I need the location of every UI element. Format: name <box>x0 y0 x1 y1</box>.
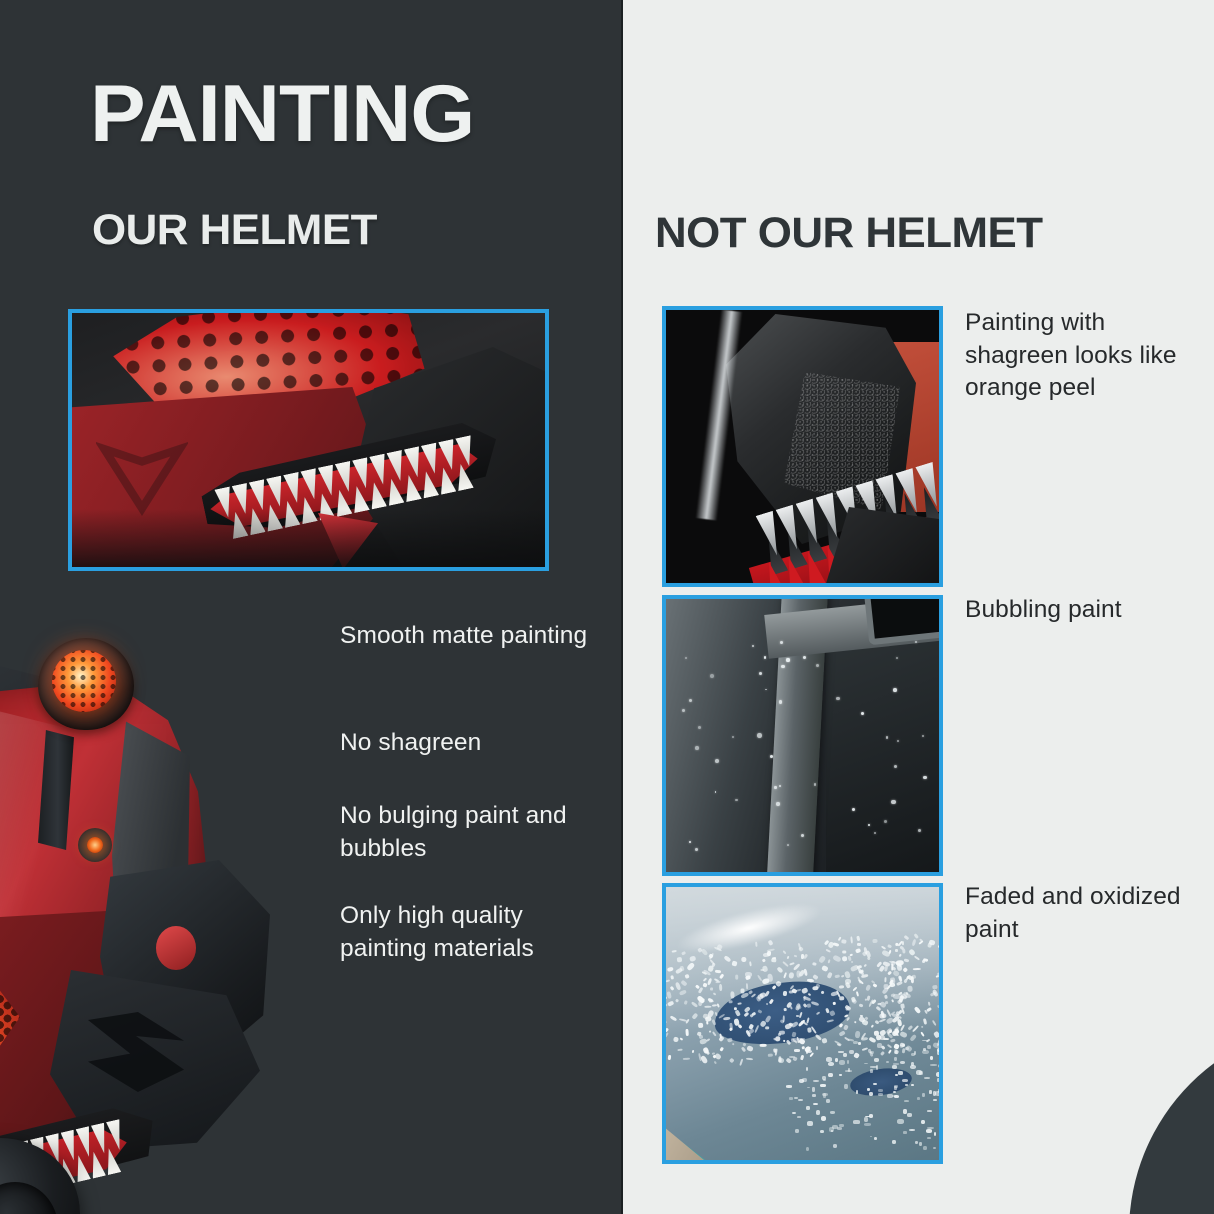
paint-bubble <box>786 658 789 661</box>
oxidation-fleck <box>666 979 670 982</box>
oxidation-fleck <box>743 1006 750 1013</box>
oxidation-fleck <box>912 974 916 979</box>
oxidation-fleck <box>843 950 847 953</box>
oxidation-fleck <box>724 955 732 962</box>
oxidation-fleck <box>723 1017 731 1021</box>
oxidation-fleck <box>904 1100 910 1102</box>
oxidation-fleck <box>873 1083 877 1085</box>
oxidation-fleck <box>869 1114 873 1118</box>
oxidation-fleck <box>798 1099 803 1101</box>
oxidation-fleck <box>888 1050 891 1054</box>
oxidation-fleck <box>853 1120 859 1123</box>
tooth <box>780 554 807 583</box>
oxidation-fleck <box>743 1043 747 1047</box>
paint-bubble <box>732 736 734 738</box>
photo-bottom-shadow <box>72 509 545 567</box>
oxidation-fleck <box>870 1066 877 1068</box>
paint-bubble <box>759 672 762 675</box>
oxidation-fleck <box>922 1093 924 1097</box>
paint-bubble <box>852 808 855 811</box>
oxidation-fleck <box>746 1045 753 1052</box>
oxidation-fleck <box>864 1117 868 1122</box>
oxidation-fleck <box>927 1110 932 1112</box>
oxidation-fleck <box>791 1038 797 1041</box>
comparison-infographic: PAINTING OUR HELMET NOT OUR HELMET <box>0 0 1214 1214</box>
oxidation-fleck <box>901 948 905 954</box>
oxidation-fleck <box>803 969 808 977</box>
oxidation-fleck <box>720 1047 724 1052</box>
paint-bubble <box>689 699 692 702</box>
oxidation-fleck <box>713 1031 717 1036</box>
oxidation-fleck <box>884 995 888 999</box>
oxidation-fleck <box>767 940 773 947</box>
oxidation-fleck <box>679 990 687 996</box>
not-our-helmet-photo-panel-3 <box>662 883 943 1164</box>
oxidation-fleck <box>684 973 689 978</box>
right-column-heading: NOT OUR HELMET <box>655 212 1043 255</box>
oxidation-fleck <box>892 1065 897 1069</box>
oxidation-fleck <box>902 1079 908 1082</box>
oxidation-fleck <box>839 997 844 1001</box>
oxidation-fleck <box>783 1015 785 1022</box>
oxidation-fleck <box>887 1094 892 1098</box>
oxidation-fleck <box>860 1014 863 1016</box>
oxidation-fleck <box>861 1019 868 1026</box>
oxidation-fleck <box>870 1024 873 1027</box>
oxidation-fleck <box>926 1007 931 1012</box>
oxidation-fleck <box>820 1084 826 1087</box>
oxidation-fleck <box>826 1057 833 1062</box>
paint-bubble <box>735 799 737 801</box>
oxidation-fleck <box>792 1112 797 1114</box>
oxidation-fleck <box>714 1053 722 1061</box>
paint-bubble <box>682 709 685 712</box>
tooth <box>761 560 788 583</box>
oxidation-fleck <box>769 998 774 1003</box>
oxidation-fleck <box>874 1058 879 1062</box>
oxidation-fleck <box>914 1051 916 1055</box>
oxidation-fleck <box>853 1052 860 1059</box>
oxidation-fleck <box>811 1026 817 1033</box>
oxidation-fleck <box>768 1054 773 1058</box>
paint-bubble <box>695 848 698 851</box>
oxidation-fleck <box>922 1050 928 1055</box>
oxidation-fleck <box>858 1042 861 1045</box>
paint-bubble <box>715 759 719 763</box>
oxidation-fleck <box>816 1110 821 1115</box>
oxidation-fleck <box>705 1050 710 1056</box>
oxidation-fleck <box>712 1019 717 1026</box>
oxidation-fleck <box>839 1060 846 1064</box>
oxidation-fleck <box>851 961 853 963</box>
oxidation-fleck <box>795 1129 799 1133</box>
oxidation-fleck <box>850 936 853 943</box>
oxidation-fleck <box>703 978 707 982</box>
paint-bubble <box>752 645 754 647</box>
oxidation-fleck <box>903 1131 906 1134</box>
tooth <box>418 470 439 499</box>
oxidation-fleck <box>666 991 671 998</box>
oxidation-fleck <box>684 1001 688 1005</box>
oxidation-fleck <box>782 950 787 955</box>
page-title: PAINTING <box>90 74 474 155</box>
oxidation-fleck <box>826 949 832 953</box>
oxidation-fleck <box>907 985 913 991</box>
feature-item-4: Only high quality painting materials <box>340 900 590 965</box>
oxidation-fleck <box>901 1003 905 1008</box>
oxidation-fleck <box>741 1046 746 1052</box>
oxidation-fleck <box>924 1077 930 1079</box>
oxidation-fleck <box>849 1050 854 1055</box>
oxidation-fleck <box>670 985 675 990</box>
defect-label-1: Painting with shagreen looks like orange… <box>965 307 1187 405</box>
oxidation-fleck <box>913 968 921 970</box>
oxidation-fleck <box>778 1033 781 1036</box>
paint-bubble <box>923 776 926 779</box>
oxidation-fleck <box>679 1037 682 1040</box>
oxidation-fleck <box>785 1057 791 1063</box>
oxidation-fleck <box>923 1146 927 1150</box>
oxidation-fleck <box>855 948 861 953</box>
paint-bubble <box>776 802 779 805</box>
paint-bubble <box>918 829 921 832</box>
oxidation-fleck <box>719 984 723 991</box>
oxidation-fleck <box>707 978 713 986</box>
oxidation-fleck <box>881 1051 885 1055</box>
oxidation-fleck <box>714 1061 718 1065</box>
oxidation-fleck <box>807 1121 813 1125</box>
oxidation-fleck <box>893 1063 898 1065</box>
oxidation-fleck <box>799 1012 803 1018</box>
oxidation-fleck <box>853 1021 856 1024</box>
oxidation-fleck <box>892 1140 896 1144</box>
oxidation-fleck <box>842 939 848 944</box>
tooth <box>436 466 457 495</box>
helmet-red-knob <box>156 926 196 970</box>
oxidation-fleck <box>894 1085 897 1087</box>
oxidation-fleck <box>902 941 904 945</box>
oxidation-fleck <box>680 980 687 987</box>
oxidation-fleck <box>937 1048 939 1053</box>
oxidation-fleck <box>907 1113 912 1117</box>
helmet-lens-inner <box>0 1182 58 1214</box>
paint-bubble <box>757 733 762 738</box>
oxidation-fleck <box>864 1123 871 1126</box>
oxidation-fleck <box>717 1003 721 1007</box>
oxidation-fleck <box>914 956 920 961</box>
oxidation-fleck <box>936 1004 939 1008</box>
oxidation-fleck <box>765 1026 769 1029</box>
oxidation-fleck <box>920 1032 924 1037</box>
oxidation-fleck <box>797 1116 801 1118</box>
oxidation-fleck <box>827 960 830 964</box>
paint-bubble <box>781 665 784 668</box>
oxidation-fleck <box>746 1057 754 1060</box>
oxidation-fleck <box>911 939 916 947</box>
oxidation-fleck <box>774 1048 777 1055</box>
lamp-glow-face <box>52 650 116 712</box>
oxidation-fleck <box>810 1000 818 1005</box>
oxidation-fleck <box>847 1060 849 1064</box>
paint-bubble <box>884 820 887 823</box>
oxidation-fleck <box>766 1003 769 1006</box>
oxidation-fleck <box>668 1001 675 1007</box>
oxidation-fleck <box>935 1091 939 1096</box>
oxidation-fleck <box>894 1049 897 1053</box>
feature-item-3: No bulging paint and bubbles <box>340 800 590 865</box>
oxidation-fleck <box>927 1045 931 1050</box>
paint-bubble <box>891 800 895 804</box>
oxidation-fleck <box>783 1007 786 1010</box>
oxidation-fleck <box>812 986 819 991</box>
oxidation-fleck <box>891 999 894 1003</box>
oxidation-fleck <box>691 1050 694 1054</box>
oxidation-fleck <box>859 1003 864 1007</box>
oxidation-fleck <box>686 1029 689 1036</box>
oxidation-fleck <box>828 1062 834 1066</box>
tooth <box>366 481 387 510</box>
oxidation-fleck <box>833 1144 838 1148</box>
oxidation-fleck <box>799 1079 804 1083</box>
oxidation-fleck <box>938 1064 939 1069</box>
oxidation-fleck <box>678 1049 683 1051</box>
helmet-honeycomb-lamp <box>38 638 134 730</box>
oxidation-fleck <box>897 981 903 986</box>
oxidation-fleck <box>893 1091 896 1093</box>
oxidation-fleck <box>675 998 680 1003</box>
oxidation-fleck <box>807 1087 810 1089</box>
oxidation-fleck <box>861 1037 868 1041</box>
oxidation-fleck <box>782 961 789 967</box>
oxidation-fleck <box>837 1127 842 1130</box>
oxidation-fleck <box>933 1099 937 1101</box>
oxidation-fleck <box>870 1069 873 1073</box>
our-helmet-photo-panel <box>68 309 549 571</box>
oxidation-fleck <box>691 1001 698 1008</box>
oxidation-fleck <box>875 1034 881 1040</box>
paint-bubble <box>698 726 701 729</box>
oxidation-fleck <box>856 943 861 946</box>
oxidation-fleck <box>819 956 827 964</box>
oxidation-fleck <box>715 1012 719 1017</box>
oxidation-fleck <box>865 984 871 991</box>
oxidation-fleck <box>745 971 752 976</box>
oxidation-fleck <box>812 962 816 966</box>
oxidation-fleck <box>916 1070 922 1074</box>
oxidation-fleck <box>786 1085 792 1087</box>
oxidation-fleck <box>869 1092 873 1096</box>
oxidation-fleck <box>895 1074 898 1076</box>
oxidation-fleck <box>904 958 910 962</box>
oxidation-fleck <box>727 1037 733 1042</box>
oxidation-fleck <box>841 975 845 978</box>
paint-bubble <box>922 735 924 737</box>
oxidation-fleck <box>887 944 892 948</box>
oxidation-fleck <box>903 967 909 973</box>
oxidation-fleck <box>691 1013 698 1020</box>
oxidation-fleck <box>751 993 756 997</box>
oxidation-fleck <box>822 1093 828 1096</box>
oxidation-fleck <box>890 1038 896 1042</box>
oxidation-fleck <box>927 1002 930 1006</box>
oxidation-fleck <box>748 990 753 995</box>
oxidation-fleck <box>911 1084 914 1086</box>
oxidation-fleck <box>806 1106 810 1110</box>
oxidation-fleck <box>856 991 859 996</box>
oxidation-fleck <box>774 1036 779 1041</box>
oxidation-fleck <box>741 957 747 963</box>
oxidation-fleck <box>877 1043 882 1047</box>
oxidation-fleck <box>731 960 737 966</box>
oxidation-fleck <box>718 1036 724 1042</box>
defect-label-2: Bubbling paint <box>965 594 1187 627</box>
oxidation-fleck <box>863 963 867 967</box>
defect-label-3: Faded and oxidized paint <box>965 881 1187 946</box>
tooth <box>384 477 405 506</box>
paint-bubble <box>915 641 917 643</box>
oxidation-fleck <box>862 1047 868 1051</box>
oxidation-fleck <box>926 1129 932 1133</box>
oxidation-fleck <box>745 983 748 989</box>
oxidation-fleck <box>937 1038 939 1046</box>
paint-bubble <box>896 657 898 659</box>
oxidation-fleck <box>821 965 828 972</box>
oxidation-fleck <box>738 1024 743 1029</box>
paint-bubble <box>868 824 870 826</box>
oxidation-fleck <box>856 935 860 940</box>
oxidation-fleck <box>878 1093 883 1096</box>
oxidation-fleck <box>900 1061 905 1064</box>
oxidation-fleck <box>667 1054 671 1059</box>
oxidation-fleck <box>673 1036 679 1042</box>
oxidation-fleck <box>866 957 870 961</box>
oxidation-fleck <box>867 1088 870 1091</box>
oxidation-fleck <box>888 949 891 953</box>
oxidation-fleck <box>909 1129 915 1131</box>
hero-helmet-image <box>0 560 370 1214</box>
oxidation-fleck <box>837 1043 841 1046</box>
oxidation-fleck <box>921 1120 925 1125</box>
oxidation-fleck <box>913 1006 920 1014</box>
oxidation-fleck <box>933 985 938 990</box>
oxidation-fleck <box>795 1003 800 1010</box>
oxidation-fleck <box>788 972 794 979</box>
oxidation-fleck <box>932 1020 937 1027</box>
oxidation-fleck <box>698 1023 703 1029</box>
oxidation-fleck <box>911 1062 914 1066</box>
tooth <box>401 473 422 502</box>
left-column-heading: OUR HELMET <box>92 209 377 252</box>
oxidation-fleck <box>789 1097 794 1099</box>
oxidation-fleck <box>821 1116 827 1121</box>
oxidation-fleck <box>905 1084 908 1086</box>
tooth <box>800 548 827 583</box>
oxidation-fleck <box>921 1026 924 1029</box>
paint-bubbles <box>666 599 939 872</box>
oxidation-fleck <box>715 970 721 974</box>
paint-bubble <box>816 664 819 667</box>
oxidation-fleck <box>839 1074 842 1076</box>
oxidation-fleck <box>856 1090 858 1094</box>
oxidation-fleck <box>704 1006 711 1008</box>
oxidation-fleck <box>807 992 811 996</box>
oxidation-fleck <box>806 1049 808 1053</box>
oxidation-fleck <box>823 1079 826 1081</box>
oxidation-fleck <box>686 961 695 970</box>
oxidation-fleck <box>710 987 713 991</box>
oxidation-fleck <box>878 1089 883 1092</box>
oxidation-fleck <box>870 1051 874 1054</box>
oxidation-fleck <box>927 1137 931 1139</box>
oxidation-fleck <box>671 950 676 953</box>
oxidation-fleck <box>885 977 887 982</box>
paint-bubble <box>695 746 699 750</box>
oxidation-fleck <box>812 1087 815 1092</box>
oxidation-fleck <box>796 971 800 978</box>
paint-bubble <box>787 844 789 846</box>
oxidation-fleck <box>794 1049 800 1052</box>
oxidation-fleck <box>915 1141 918 1145</box>
oxidation-fleck <box>934 1031 939 1038</box>
oxidation-fleck <box>683 1057 690 1059</box>
paint-bubble <box>803 656 806 659</box>
oxidation-fleck <box>919 1142 922 1146</box>
oxidation-fleck <box>670 1015 678 1021</box>
helmet-small-led <box>78 828 112 862</box>
oxidation-fleck <box>886 971 891 976</box>
oxidation-fleck <box>829 1010 836 1017</box>
oxidation-fleck <box>777 966 784 973</box>
oxidation-fleck <box>738 1002 742 1004</box>
oxidation-fleck <box>883 1038 889 1040</box>
paint-bubble <box>836 697 840 701</box>
paint-bubble <box>780 641 783 644</box>
not-our-helmet-photo-panel-1 <box>662 306 943 587</box>
oxidation-fleck <box>864 1063 868 1065</box>
feature-item-1: Smooth matte painting <box>340 620 590 653</box>
paint-bubble <box>893 688 897 692</box>
oxidation-fleck <box>790 962 795 965</box>
oxidation-fleck <box>910 1034 917 1042</box>
oxidation-fleck <box>760 1044 767 1047</box>
oxidation-fleck <box>761 978 769 985</box>
oxidation-fleck <box>667 966 674 972</box>
oxidation-fleck <box>887 1044 892 1048</box>
oxidation-fleck <box>783 972 787 978</box>
paint-bubble <box>715 791 717 793</box>
oxidation-fleck <box>821 991 825 995</box>
oxidation-fleck <box>827 1019 834 1022</box>
oxidation-fleck <box>707 997 713 1002</box>
oxidation-fleck <box>866 995 870 1001</box>
oxidation-fleck <box>758 1009 763 1013</box>
oxidation-fleck <box>895 949 898 952</box>
oxidation-fleck <box>810 1052 815 1057</box>
paint-bubble <box>874 832 876 834</box>
oxidation-fleck <box>894 1057 897 1061</box>
oxidation-fleck <box>833 1002 836 1005</box>
oxidation-fleck <box>783 991 788 996</box>
paint-bubble <box>764 656 767 659</box>
feature-item-2: No shagreen <box>340 727 590 760</box>
oxidation-fleck <box>812 1094 816 1097</box>
oxidation-fleck <box>679 1018 687 1022</box>
chevron-logo-icon <box>96 431 188 521</box>
oxidation-fleck <box>930 1056 934 1060</box>
oxidation-fleck <box>873 984 878 988</box>
oxidation-fleck <box>794 955 797 958</box>
tooth <box>87 1150 106 1178</box>
